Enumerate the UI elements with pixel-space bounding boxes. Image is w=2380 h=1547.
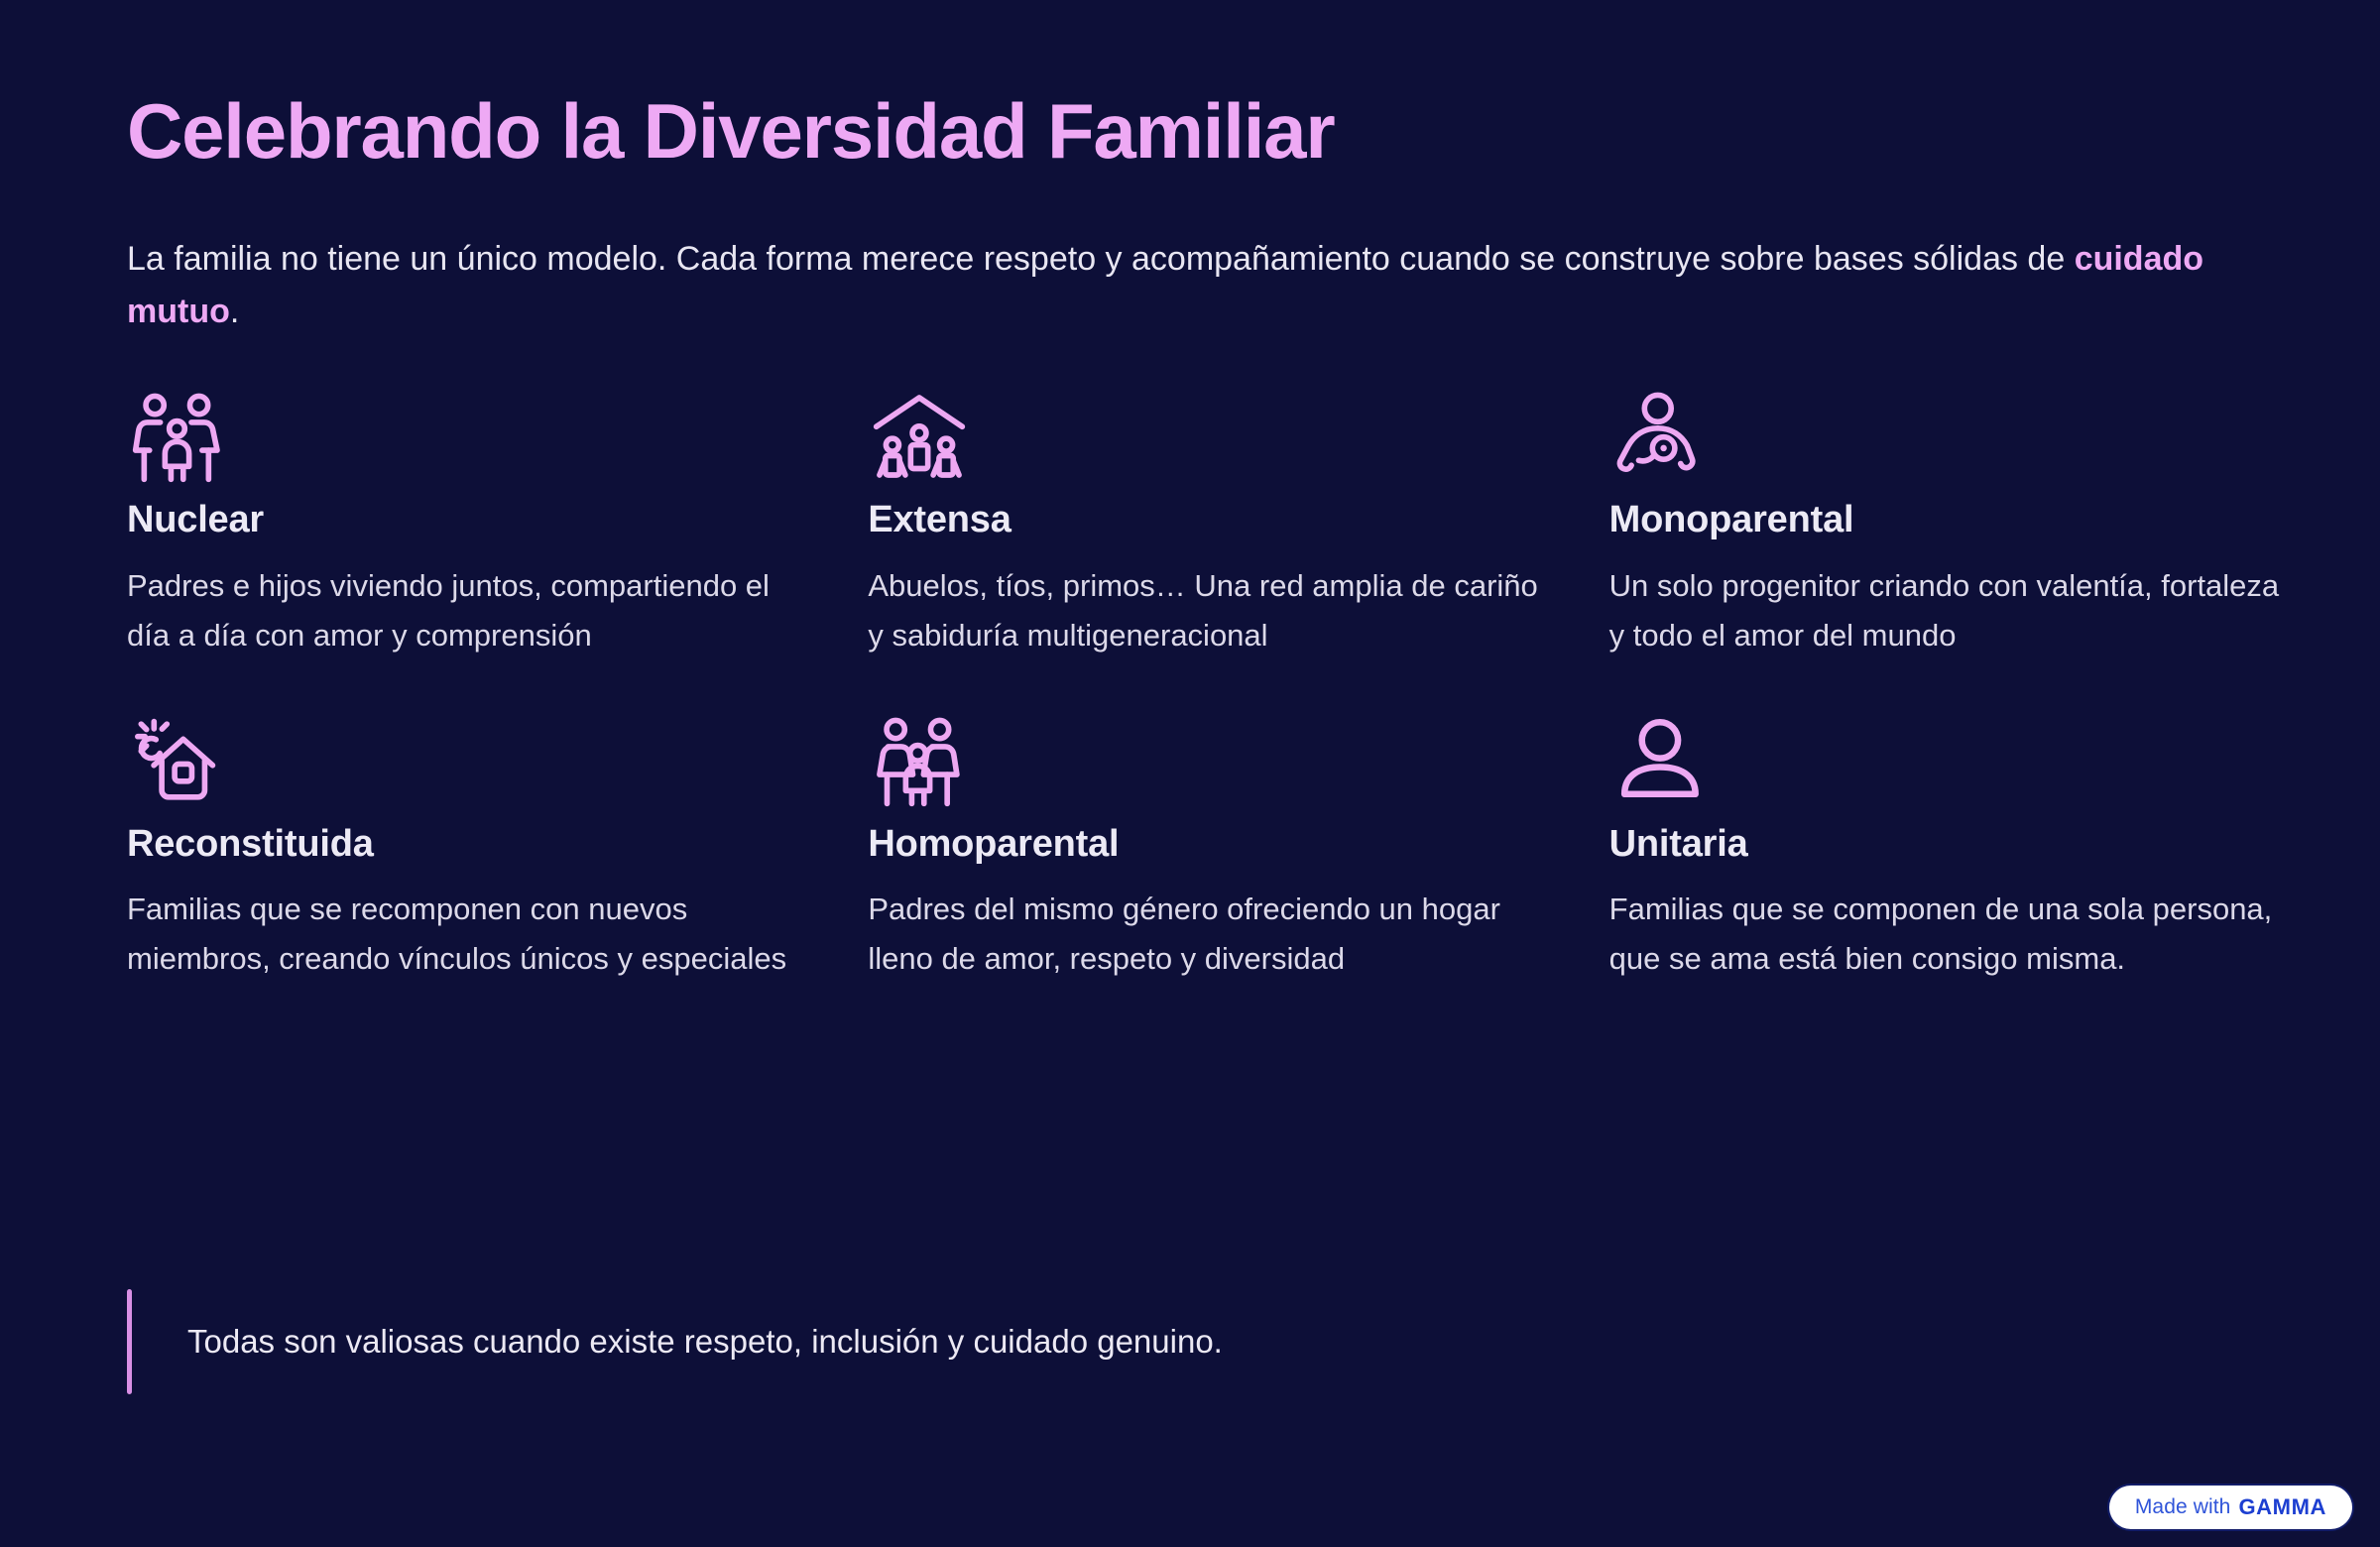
- card-title: Nuclear: [127, 498, 806, 543]
- page-title: Celebrando la Diversidad Familiar: [127, 91, 2253, 172]
- badge-brand-label: GAMMA: [2238, 1494, 2326, 1520]
- card-unitaria[interactable]: Unitaria Familias que se componen de una…: [1609, 705, 2289, 985]
- closing-quote: Todas son valiosas cuando existe respeto…: [127, 1289, 1223, 1394]
- card-reconstituida[interactable]: Reconstituida Familias que se recomponen…: [127, 705, 806, 985]
- card-extensa[interactable]: Extensa Abuelos, tíos, primos… Una red a…: [868, 381, 1547, 660]
- card-description: Padres e hijos viviendo juntos, comparti…: [127, 561, 806, 660]
- slide-root: Celebrando la Diversidad Familiar La fam…: [0, 0, 2380, 1547]
- intro-text-before: La familia no tiene un único modelo. Cad…: [127, 240, 2075, 278]
- extended-family-under-roof-icon: [868, 381, 1547, 492]
- card-title: Homoparental: [868, 822, 1547, 868]
- card-title: Extensa: [868, 498, 1547, 543]
- family-types-grid: Nuclear Padres e hijos viviendo juntos, …: [127, 381, 2289, 984]
- house-with-sun-icon: [127, 705, 806, 816]
- card-description: Familias que se recomponen con nuevos mi…: [127, 885, 806, 984]
- card-description: Familias que se componen de una sola per…: [1609, 885, 2289, 984]
- made-with-gamma-badge[interactable]: Made with GAMMA: [2109, 1486, 2352, 1529]
- card-title: Unitaria: [1609, 822, 2289, 868]
- badge-made-with-label: Made with: [2135, 1495, 2231, 1519]
- same-gender-parents-child-icon: [868, 705, 1547, 816]
- family-two-parents-child-icon: [127, 381, 806, 492]
- intro-paragraph: La familia no tiene un único modelo. Cad…: [127, 233, 2269, 337]
- card-description: Padres del mismo género ofreciendo un ho…: [868, 885, 1547, 984]
- closing-quote-text: Todas son valiosas cuando existe respeto…: [132, 1289, 1223, 1394]
- card-title: Reconstituida: [127, 822, 806, 868]
- card-description: Un solo progenitor criando con valentía,…: [1609, 561, 2289, 660]
- parent-holding-baby-icon: [1609, 381, 2289, 492]
- single-person-icon: [1609, 705, 2289, 816]
- card-description: Abuelos, tíos, primos… Una red amplia de…: [868, 561, 1547, 660]
- card-monoparental[interactable]: Monoparental Un solo progenitor criando …: [1609, 381, 2289, 660]
- card-title: Monoparental: [1609, 498, 2289, 543]
- card-homoparental[interactable]: Homoparental Padres del mismo género ofr…: [868, 705, 1547, 985]
- card-nuclear[interactable]: Nuclear Padres e hijos viviendo juntos, …: [127, 381, 806, 660]
- intro-text-after: .: [230, 293, 239, 330]
